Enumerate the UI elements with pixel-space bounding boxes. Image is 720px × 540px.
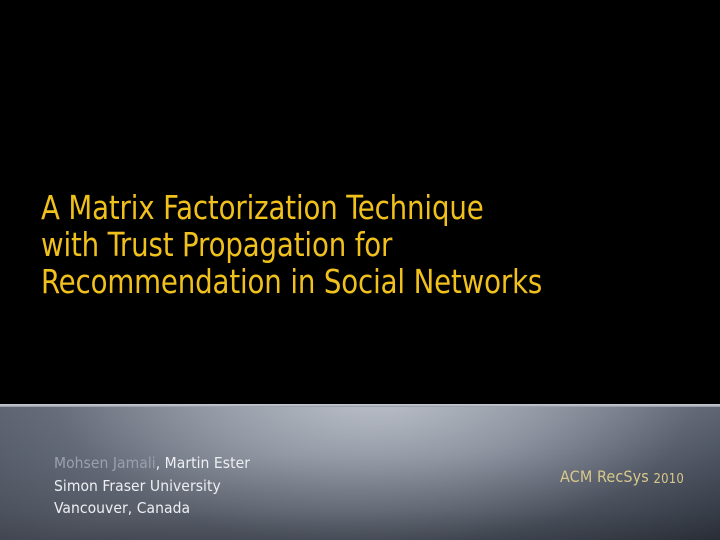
conference-year: 2010 bbox=[654, 472, 685, 487]
footer-panel: Mohsen Jamali, Martin Ester Simon Fraser… bbox=[0, 407, 720, 540]
author-affiliation: Simon Fraser University bbox=[54, 475, 250, 498]
author-location: Vancouver, Canada bbox=[54, 497, 250, 520]
author-name-primary: Mohsen Jamali bbox=[54, 454, 156, 472]
conference-label: ACM RecSys 2010 bbox=[560, 467, 684, 486]
author-line-names: Mohsen Jamali, Martin Ester bbox=[54, 452, 250, 475]
title-line-1: A Matrix Factorization Technique bbox=[41, 190, 665, 227]
title-panel: A Matrix Factorization Technique with Tr… bbox=[0, 0, 720, 404]
title-line-2: with Trust Propagation for bbox=[41, 227, 665, 264]
author-name-rest: , Martin Ester bbox=[156, 454, 250, 472]
presentation-title: A Matrix Factorization Technique with Tr… bbox=[41, 190, 701, 301]
author-block: Mohsen Jamali, Martin Ester Simon Fraser… bbox=[54, 452, 250, 520]
conference-name: ACM RecSys bbox=[560, 467, 649, 486]
title-line-3: Recommendation in Social Networks bbox=[41, 264, 665, 301]
title-slide: A Matrix Factorization Technique with Tr… bbox=[0, 0, 720, 540]
